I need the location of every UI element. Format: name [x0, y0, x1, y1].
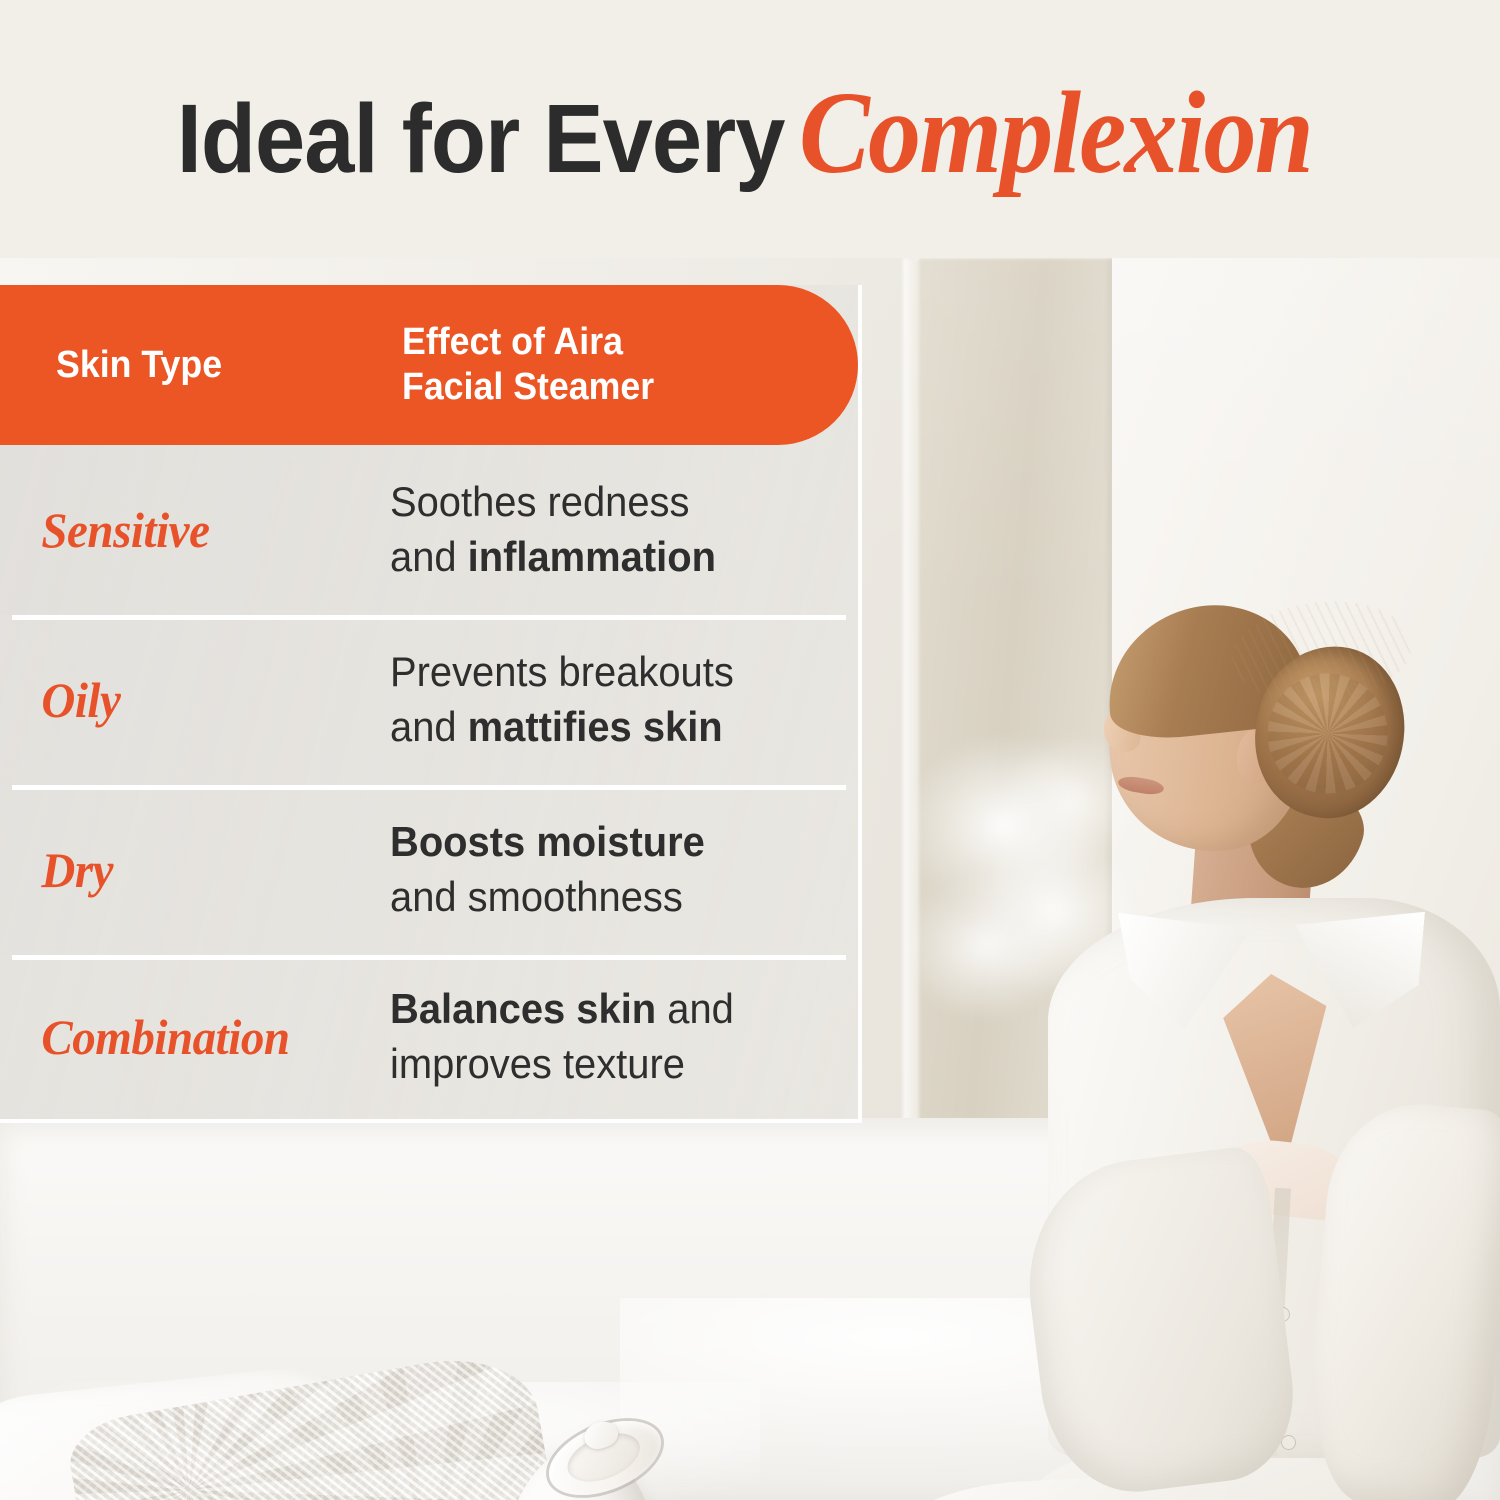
column-header-effect: Effect of Aira Facial Steamer [402, 320, 654, 410]
table-row: Combination Balances skin and improves t… [0, 955, 858, 1119]
skin-type-label: Dry [0, 841, 367, 899]
skin-type-label: Oily [0, 671, 367, 729]
effect-line2-bold: inflammation [468, 533, 716, 580]
skin-type-label: Combination [0, 1008, 367, 1066]
table-row: Sensitive Soothes redness and inflammati… [0, 445, 858, 615]
skin-type-label: Sensitive [0, 501, 367, 559]
steamer-nozzle [538, 1406, 671, 1500]
column-header-effect-line2: Facial Steamer [402, 365, 654, 410]
effect-line2-regular: and smoothness [390, 873, 683, 920]
effect-line2-regular: improves texture [390, 1040, 685, 1087]
effect-text: Soothes redness and inflammation [390, 475, 716, 584]
effect-line1-bold: Boosts moisture [390, 818, 705, 865]
effect-line2-regular: and [390, 703, 468, 750]
shirt-button [1282, 1436, 1295, 1449]
table-row: Dry Boosts moisture and smoothness [0, 785, 858, 955]
effect-line2-regular: and [390, 533, 468, 580]
effect-line1-bold: Balances skin [390, 985, 656, 1032]
effect-line1-regular: and [656, 985, 734, 1032]
skin-type-table: Skin Type Effect of Aira Facial Steamer … [0, 285, 862, 1123]
headline-plain-text: Ideal for Every [177, 90, 785, 187]
aira-facial-steamer [492, 1418, 670, 1500]
column-header-effect-line1: Effect of Aira [402, 320, 654, 365]
effect-text: Prevents breakouts and mattifies skin [390, 645, 734, 754]
infographic-canvas: Ideal for EveryComplexion Skin Type Effe… [0, 0, 1500, 1500]
effect-text: Boosts moisture and smoothness [390, 815, 705, 924]
effect-line1: Soothes redness [390, 478, 689, 525]
headline-accent-text: Complexion [799, 74, 1312, 192]
table-row: Oily Prevents breakouts and mattifies sk… [0, 615, 858, 785]
page-title: Ideal for EveryComplexion [131, 74, 1369, 192]
headline-band: Ideal for EveryComplexion [0, 0, 1500, 258]
column-header-skin-type: Skin Type [56, 343, 376, 388]
effect-line1: Prevents breakouts [390, 648, 734, 695]
effect-text: Balances skin and improves texture [390, 982, 734, 1091]
table-header-row: Skin Type Effect of Aira Facial Steamer [0, 285, 858, 445]
effect-line2-bold: mattifies skin [468, 703, 723, 750]
table-body: Sensitive Soothes redness and inflammati… [0, 445, 858, 1119]
